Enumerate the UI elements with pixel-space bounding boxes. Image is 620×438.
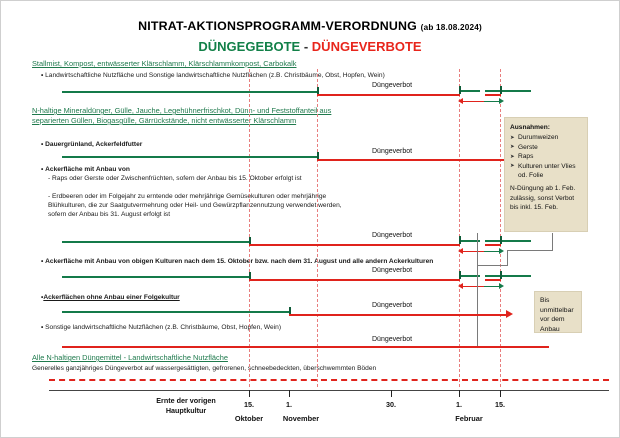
row4-divider-feb15 [500, 271, 502, 279]
row1-arrow-green-line [484, 101, 500, 102]
row4-red-seg [485, 279, 501, 281]
callout-bis-unmittelbar: Bis unmittelbar vor dem Anbau [534, 291, 582, 333]
row1-red-bar [317, 94, 460, 96]
group-heading-1: Stallmist, Kompost, entwässerter Klärsch… [32, 59, 452, 69]
group-2-bullet-2: • Ackerfläche mit Anbau von [41, 165, 341, 174]
connector-horizontal-a [507, 250, 553, 251]
row1-green-bar [62, 91, 317, 93]
group-1-bullet-1-text: Landwirtschaftliche Nutzfläche und Sonst… [45, 72, 385, 79]
harvest-note-line-1: Ernte der vorigen [121, 396, 251, 406]
row5-red-bar [289, 314, 507, 316]
title-valid-from: (ab 18.08.2024) [421, 23, 482, 32]
group-heading-2: N-haltige Mineraldünger, Gülle, Jauche, … [32, 106, 332, 126]
group-2-bullet-2-text: Ackerfläche mit Anbau von [45, 166, 130, 173]
group-2-subline-2: - Erdbeeren oder im Folgejahr zu erntend… [48, 192, 343, 220]
row4-divider-feb1 [459, 271, 461, 279]
connector-vertical-c [507, 250, 508, 265]
row4-arrow-red-line [462, 286, 484, 287]
row1-divider-feb1 [459, 86, 461, 94]
callout-ausnahmen-item-3: Raps [510, 152, 582, 161]
row3-label: Düngeverbot [372, 232, 412, 239]
row3-arrow-right-head-icon [499, 248, 504, 254]
row4-green-bar [62, 276, 249, 278]
row2-label: Düngeverbot [372, 148, 412, 155]
row2-red-bar [317, 159, 507, 161]
callout-ausnahmen-item-4: Kulturen unter Vlies [510, 162, 582, 171]
group-2-bullet-5-text: Sonstige landwirtschaftliche Nutzflächen… [45, 324, 281, 331]
title-main: NITRAT-AKTIONSPROGRAMM-VERORDNUNG [138, 19, 417, 33]
tick-label-30: 30. [376, 400, 406, 409]
callout-ausnahmen-title: Ausnahmen: [510, 123, 582, 132]
callout-ausnahmen-item-4-cont: od. Folie [510, 171, 582, 180]
row6-label: Düngeverbot [372, 336, 412, 343]
page-title: NITRAT-AKTIONSPROGRAMM-VERORDNUNG (ab 18… [1, 19, 619, 33]
row3-green-seg-b [485, 240, 531, 242]
marker-30-november [317, 69, 318, 387]
row3-arrow-red-line [462, 251, 484, 252]
connector-horizontal-b [477, 265, 508, 266]
tick-1-november [289, 390, 290, 397]
row1-arrow-left-head-icon [458, 98, 463, 104]
callout-ausnahmen-item-2: Gerste [510, 143, 582, 152]
tick-label-15-februar: 15. [485, 400, 515, 409]
row2-green-bar [62, 156, 317, 158]
month-label-november: November [266, 414, 336, 423]
year-round-ban-dashed-line [49, 379, 609, 381]
group-2-bullet-4: •Ackerflächen ohne Anbau einer Folgekult… [41, 293, 341, 302]
group-2-bullet-5: • Sonstige landwirtschaftliche Nutzfläch… [41, 323, 361, 332]
connector-vertical-b [552, 233, 553, 251]
row6-red-bar [62, 346, 549, 348]
tick-15-februar [500, 390, 501, 397]
marker-15-februar [500, 69, 501, 387]
row3-red-bar [249, 244, 460, 246]
harvest-note: Ernte der vorigen Hauptkultur [121, 396, 251, 416]
tick-30 [391, 390, 392, 397]
row4-label: Düngeverbot [372, 267, 412, 274]
group-2-bullet-4-text: Ackerflächen ohne Anbau einer Folgekultu… [43, 294, 179, 301]
diagram-canvas: NITRAT-AKTIONSPROGRAMM-VERORDNUNG (ab 18… [0, 0, 620, 438]
tick-label-15-oktober: 15. [234, 400, 264, 409]
row5-label: Düngeverbot [372, 302, 412, 309]
row4-green-seg-b [485, 275, 531, 277]
subtitle-duengeverbote: DÜNGEVERBOTE [312, 39, 422, 54]
callout-ausnahmen-note: N-Düngung ab 1. Feb. zulässig, sonst Ver… [510, 184, 582, 212]
row3-arrow-left-head-icon [458, 248, 463, 254]
row1-green-seg-b [485, 90, 531, 92]
group-2-subline-1: - Raps oder Gerste oder Zwischenfrüchten… [48, 174, 343, 183]
row5-green-bar [62, 311, 289, 313]
tick-1-februar [459, 390, 460, 397]
row3-green-bar [62, 241, 249, 243]
row1-arrow-red-line [462, 101, 484, 102]
page-subtitle: DÜNGEGEBOTE - DÜNGEVERBOTE [1, 39, 619, 54]
marker-1-februar [459, 69, 460, 387]
group-2-bullet-3-text: Ackerfläche mit Anbau von obigen Kulture… [45, 258, 433, 265]
row4-arrow-right-head-icon [499, 283, 504, 289]
marker-15-oktober [249, 69, 250, 387]
callout-ausnahmen: Ausnahmen: Durumweizen Gerste Raps Kultu… [504, 117, 588, 232]
row4-arrow-green-line [484, 286, 500, 287]
row1-red-seg [485, 94, 501, 96]
subtitle-duengegebote: DÜNGEGEBOTE [198, 39, 300, 54]
row1-label: Düngeverbot [372, 82, 412, 89]
row3-divider-feb1 [459, 236, 461, 244]
row3-red-seg [485, 244, 501, 246]
group-2-bullet-1: • Dauergrünland, Ackerfeldfutter [41, 140, 341, 149]
row5-arrow-head-icon [506, 310, 513, 318]
row1-arrow-right-head-icon [499, 98, 504, 104]
group-2-bullet-1-text: Dauergrünland, Ackerfeldfutter [45, 141, 142, 148]
connector-vertical-a [477, 233, 478, 348]
group-2-bullet-3: • Ackerfläche mit Anbau von obigen Kultu… [41, 257, 441, 266]
callout-ausnahmen-item-1: Durumweizen [510, 133, 582, 142]
row4-arrow-left-head-icon [458, 283, 463, 289]
row4-red-bar [249, 279, 460, 281]
time-axis [49, 390, 609, 391]
row1-green-seg-a [459, 90, 480, 92]
subtitle-separator: - [300, 39, 312, 54]
group-1-bullet-1: • Landwirtschaftliche Nutzfläche und Son… [41, 71, 471, 80]
group-3-bullet-1: Generelles ganzjähriges Düngeverbot auf … [32, 364, 432, 373]
month-label-februar: Februar [439, 414, 499, 423]
row3-divider-feb15 [500, 236, 502, 244]
group-heading-3: Alle N-haltigen Düngemittel - Landwirtsc… [32, 353, 362, 363]
tick-label-1-november: 1. [274, 400, 304, 409]
tick-label-1-februar: 1. [444, 400, 474, 409]
row1-divider-feb15 [500, 86, 502, 94]
row3-arrow-green-line [484, 251, 500, 252]
